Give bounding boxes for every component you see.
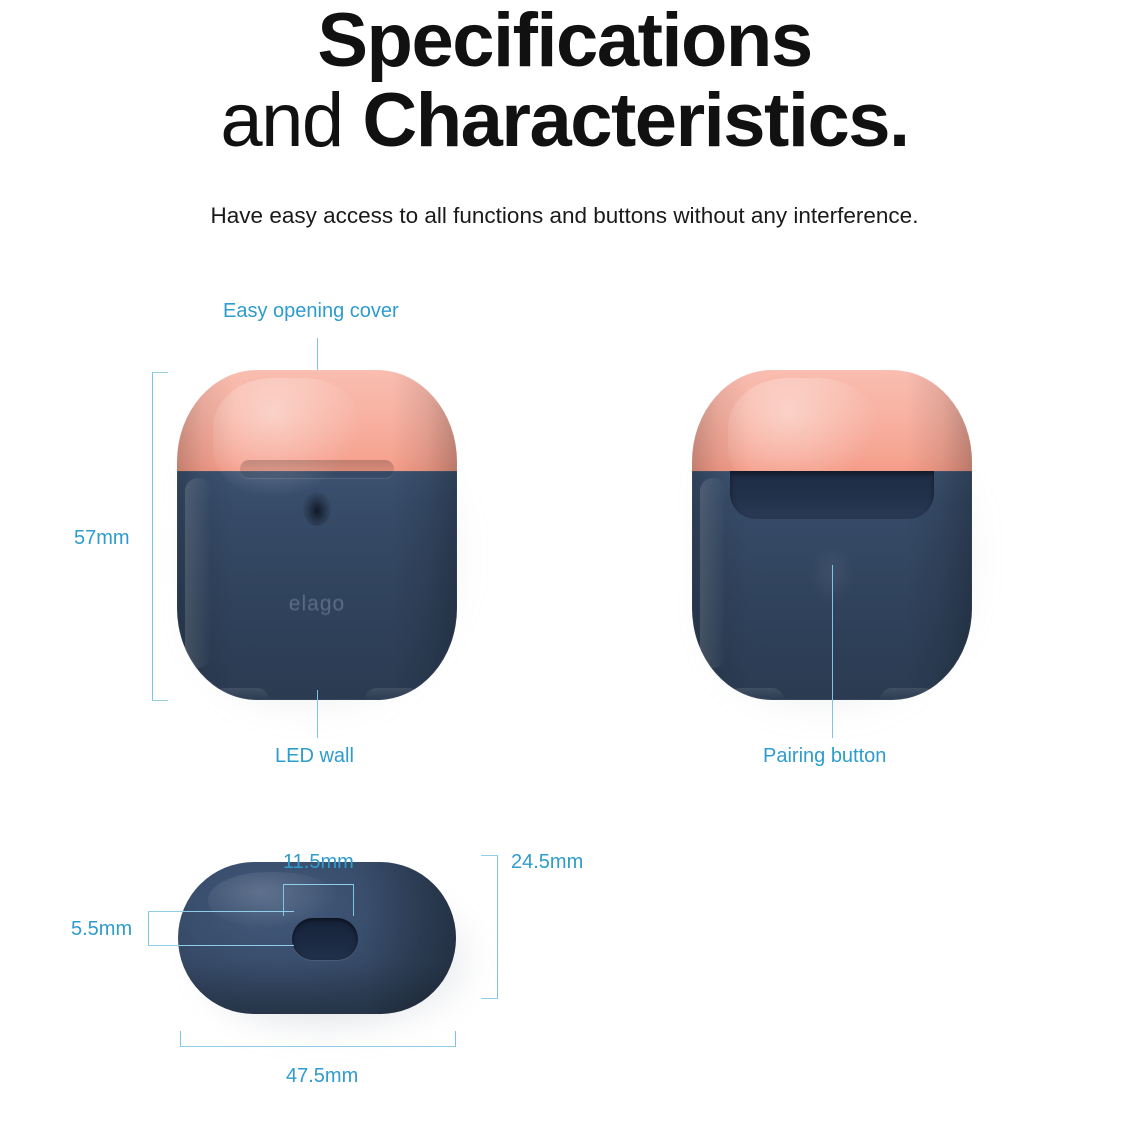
front-view-shade-right xyxy=(391,370,457,700)
dimension-bracket-height-tick-bottom xyxy=(152,700,168,701)
dimension-bracket-depth-line xyxy=(497,855,498,998)
foot-notch-right xyxy=(365,688,421,700)
dimension-bracket-depth-tick-bottom xyxy=(481,998,498,999)
leader-line-port-height-bottom xyxy=(148,945,294,946)
bottom-view-shade-bottom xyxy=(178,962,456,1014)
dimension-bracket-width-line xyxy=(180,1046,455,1047)
brand-logo: elago xyxy=(177,592,457,616)
dimension-bracket-port-width-right xyxy=(353,884,354,916)
leader-line-pairing-button xyxy=(832,565,833,738)
charging-port-cutout xyxy=(292,918,358,960)
dimension-bracket-height-line xyxy=(152,372,153,700)
foot-notch-left xyxy=(728,688,784,700)
dimension-label-port-height: 5.5mm xyxy=(71,918,132,941)
lid-seam-groove xyxy=(240,460,394,478)
dimension-label-width: 47.5mm xyxy=(286,1065,358,1088)
front-view-body: elago xyxy=(177,370,457,700)
leader-line-port-height-top xyxy=(148,911,294,912)
dimension-label-port-width: 11.5mm xyxy=(283,851,354,874)
dimension-bracket-height-tick-top xyxy=(152,372,168,373)
page-title: Specifications and Characteristics. xyxy=(0,0,1129,159)
title-line-1: Specifications xyxy=(0,2,1129,80)
page-subtitle: Have easy access to all functions and bu… xyxy=(0,203,1129,229)
foot-notch-left xyxy=(213,688,269,700)
back-view-highlight xyxy=(700,478,726,668)
dimension-bracket-width-tick-right xyxy=(455,1031,456,1047)
front-view-gloss xyxy=(213,378,363,498)
callout-easy-opening-cover: Easy opening cover xyxy=(223,300,399,323)
dimension-label-depth: 24.5mm xyxy=(511,851,583,874)
front-view-highlight xyxy=(185,478,211,668)
specifications-infographic: Specifications and Characteristics. Have… xyxy=(0,0,1129,1129)
dimension-bracket-depth-tick-top xyxy=(481,855,498,856)
title-line-2-light: and xyxy=(220,78,362,163)
title-line-2: and Characteristics. xyxy=(0,82,1129,160)
callout-led-wall: LED wall xyxy=(275,745,354,768)
back-view-shade-right xyxy=(906,370,972,700)
callout-pairing-button: Pairing button xyxy=(763,745,886,768)
hinge-recess xyxy=(730,471,934,519)
title-line-2-bold: Characteristics. xyxy=(362,78,908,163)
front-view: elago xyxy=(177,370,457,700)
dimension-bracket-port-width-top xyxy=(283,884,354,885)
foot-notch-right xyxy=(880,688,936,700)
dimension-bracket-port-height-line xyxy=(148,911,149,945)
leader-line-led-wall xyxy=(317,690,318,738)
led-indicator-dimple xyxy=(303,492,331,526)
dimension-label-height: 57mm xyxy=(74,527,130,550)
dimension-bracket-width-tick-left xyxy=(180,1031,181,1047)
